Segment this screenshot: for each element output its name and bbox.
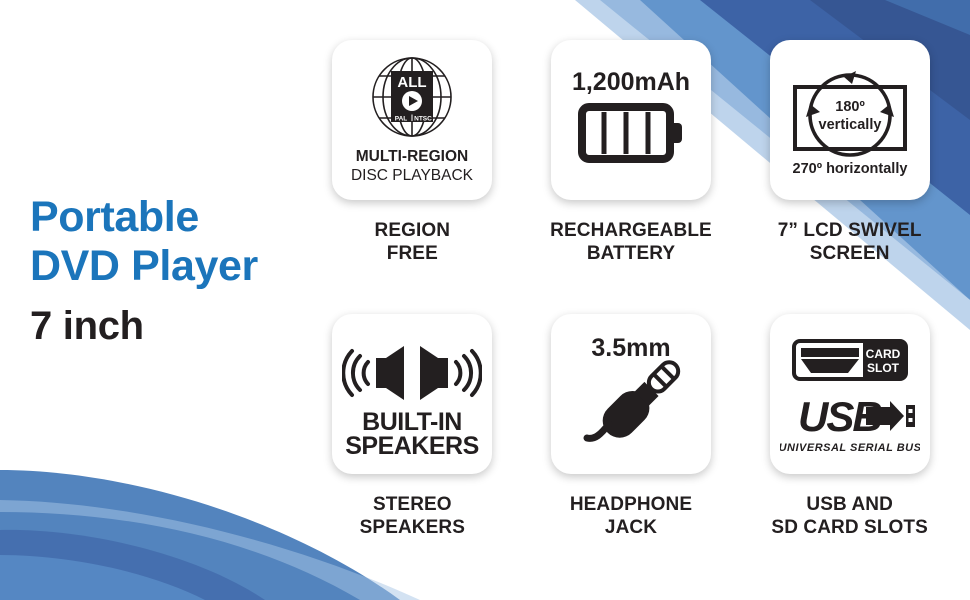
slot-label: SLOT (867, 361, 900, 375)
title-line-2: DVD Player (30, 245, 258, 288)
feature-rechargeable-battery: 1,200mAh RECHARGEABLE BATTERY (525, 40, 738, 306)
card-slot-badge: CARD SLOT (794, 341, 906, 379)
feature-caption: STEREO SPEAKERS (360, 493, 465, 539)
feature-caption: REGION FREE (375, 219, 451, 265)
battery-icon: 1,200mAh (562, 60, 700, 180)
page-title: Portable DVD Player 7 inch (30, 196, 258, 346)
feature-card[interactable]: 3.5mm (551, 314, 711, 474)
swivel-screen-icon: 180º vertically 270º horizontally (780, 55, 920, 185)
feature-stereo-speakers: BUILT-IN SPEAKERS STEREO SPEAKERS (306, 314, 519, 580)
rotation-arrow-top (844, 71, 856, 84)
feature-card[interactable]: BUILT-IN SPEAKERS (332, 314, 492, 474)
wave-bottom-deep (0, 530, 265, 600)
plug-body (596, 353, 688, 445)
title-line-3: 7 inch (30, 306, 258, 346)
speakers-label: SPEAKERS (346, 432, 480, 460)
wave-bottom-mid (0, 555, 205, 600)
feature-card[interactable]: 1,200mAh (551, 40, 711, 200)
wave-top-accent (885, 0, 970, 35)
built-in-speakers-icon: BUILT-IN SPEAKERS (342, 328, 482, 460)
usb-subtitle: UNIVERSAL SERIAL BUS (780, 442, 920, 454)
feature-card[interactable]: CARD SLOT USB UNIVERSAL SERIAL BUS (770, 314, 930, 474)
speaker-left (376, 346, 404, 400)
battery-capacity-label: 1,200mAh (572, 68, 690, 96)
vertical-axis-label: vertically (818, 117, 881, 133)
rotation-arrow-left (806, 104, 820, 117)
feature-caption: HEADPHONE JACK (570, 493, 692, 539)
disc-playback-subtitle: DISC PLAYBACK (351, 167, 474, 184)
headphone-plug-icon: 3.5mm (561, 330, 701, 458)
title-line-1: Portable (30, 196, 258, 239)
vertical-angle-label: 180º (835, 99, 865, 115)
feature-card[interactable]: 180º vertically 270º horizontally (770, 40, 930, 200)
badge-pal-label: PAL (395, 116, 408, 123)
usb-card-slot-icon: CARD SLOT USB UNIVERSAL SERIAL BUS (780, 329, 920, 459)
badge-ntsc-label: NTSC (414, 116, 432, 123)
feature-caption: 7” LCD SWIVEL SCREEN (778, 219, 922, 265)
infographic-canvas: Portable DVD Player 7 inch (0, 0, 970, 600)
multi-region-title: MULTI-REGION (356, 148, 469, 165)
feature-card[interactable]: ALL PAL NTSC MULTI-REGION DISC PLAYBACK (332, 40, 492, 200)
feature-caption: RECHARGEABLE BATTERY (550, 219, 712, 265)
feature-usb-sd-card-slots: CARD SLOT USB UNIVERSAL SERIAL BUS USB A… (743, 314, 956, 580)
feature-caption: USB AND SD CARD SLOTS (771, 493, 927, 539)
feature-region-free: ALL PAL NTSC MULTI-REGION DISC PLAYBACK … (306, 40, 519, 306)
feature-lcd-swivel-screen: 180º vertically 270º horizontally 7” LCD… (743, 40, 956, 306)
usb-logo: USB UNIVERSAL SERIAL BUS (780, 393, 920, 454)
battery-terminal (670, 123, 682, 143)
horizontal-angle-label: 270º horizontally (792, 161, 907, 177)
card-label: CARD (865, 347, 900, 361)
speaker-right (420, 346, 448, 400)
feature-grid: ALL PAL NTSC MULTI-REGION DISC PLAYBACK … (306, 40, 956, 580)
rotation-arrow-right (880, 104, 894, 117)
multi-region-globe-icon: ALL PAL NTSC MULTI-REGION DISC PLAYBACK (343, 51, 481, 189)
badge-all-label: ALL (398, 74, 427, 91)
feature-headphone-jack: 3.5mm HEADPHONE JACK (525, 314, 738, 580)
plug-cable (587, 424, 609, 438)
jack-size-label: 3.5mm (591, 334, 670, 362)
